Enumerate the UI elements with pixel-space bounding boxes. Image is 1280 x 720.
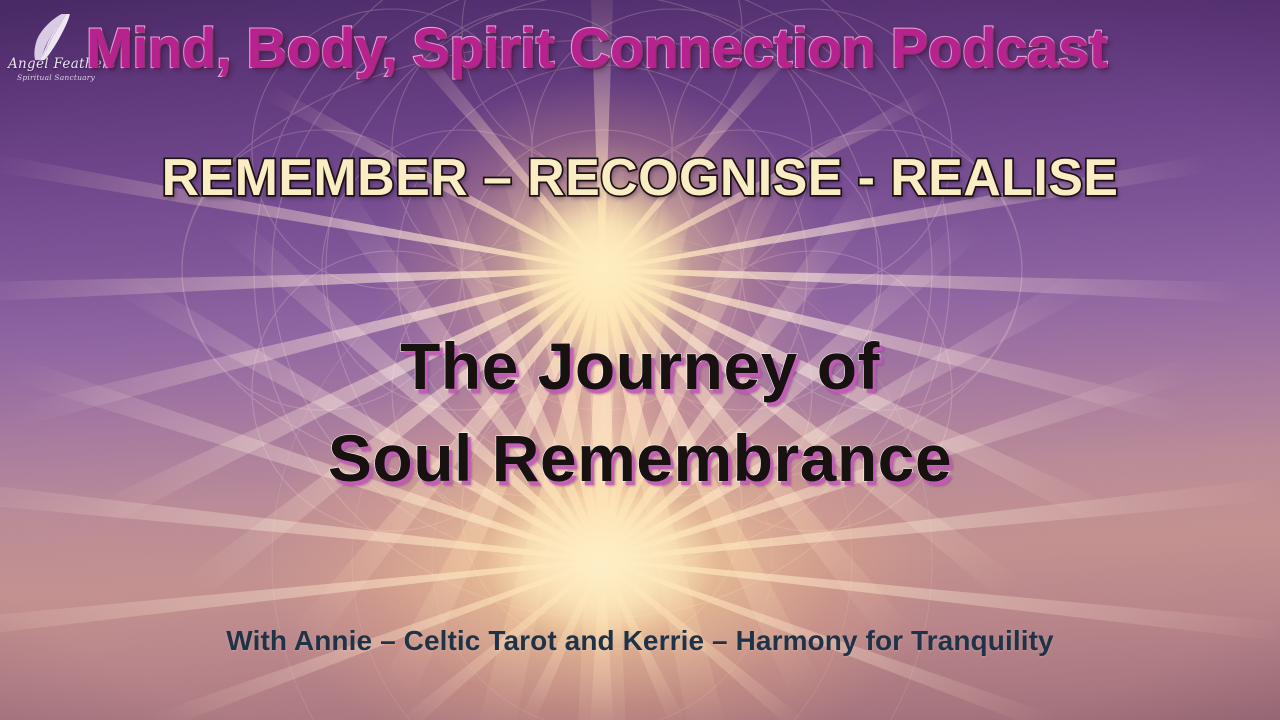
main-title-line-1: The Journey of <box>0 320 1280 412</box>
podcast-cover-image: Angel Feathers Spiritual Sanctuary Mind,… <box>0 0 1280 720</box>
main-title: The Journey of Soul Remembrance <box>0 320 1280 504</box>
presenters-credit: With Annie – Celtic Tarot and Kerrie – H… <box>0 625 1280 657</box>
podcast-title: Mind, Body, Spirit Connection Podcast <box>86 17 1264 79</box>
main-title-line-2: Soul Remembrance <box>0 412 1280 504</box>
episode-tagline: REMEMBER – RECOGNISE - REALISE <box>0 148 1280 208</box>
